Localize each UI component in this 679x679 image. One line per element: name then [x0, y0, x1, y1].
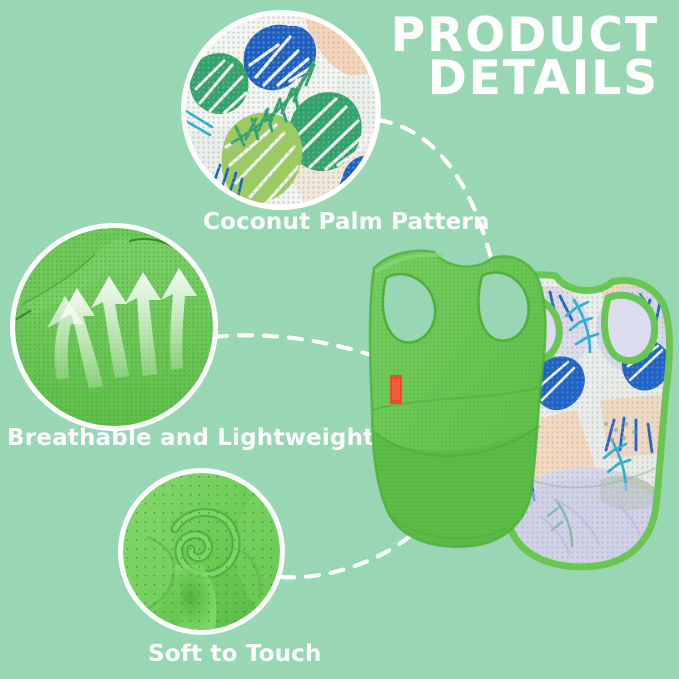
- product-details-infographic: PRODUCT DETAILS: [0, 0, 679, 679]
- product-photo-group: [0, 0, 679, 679]
